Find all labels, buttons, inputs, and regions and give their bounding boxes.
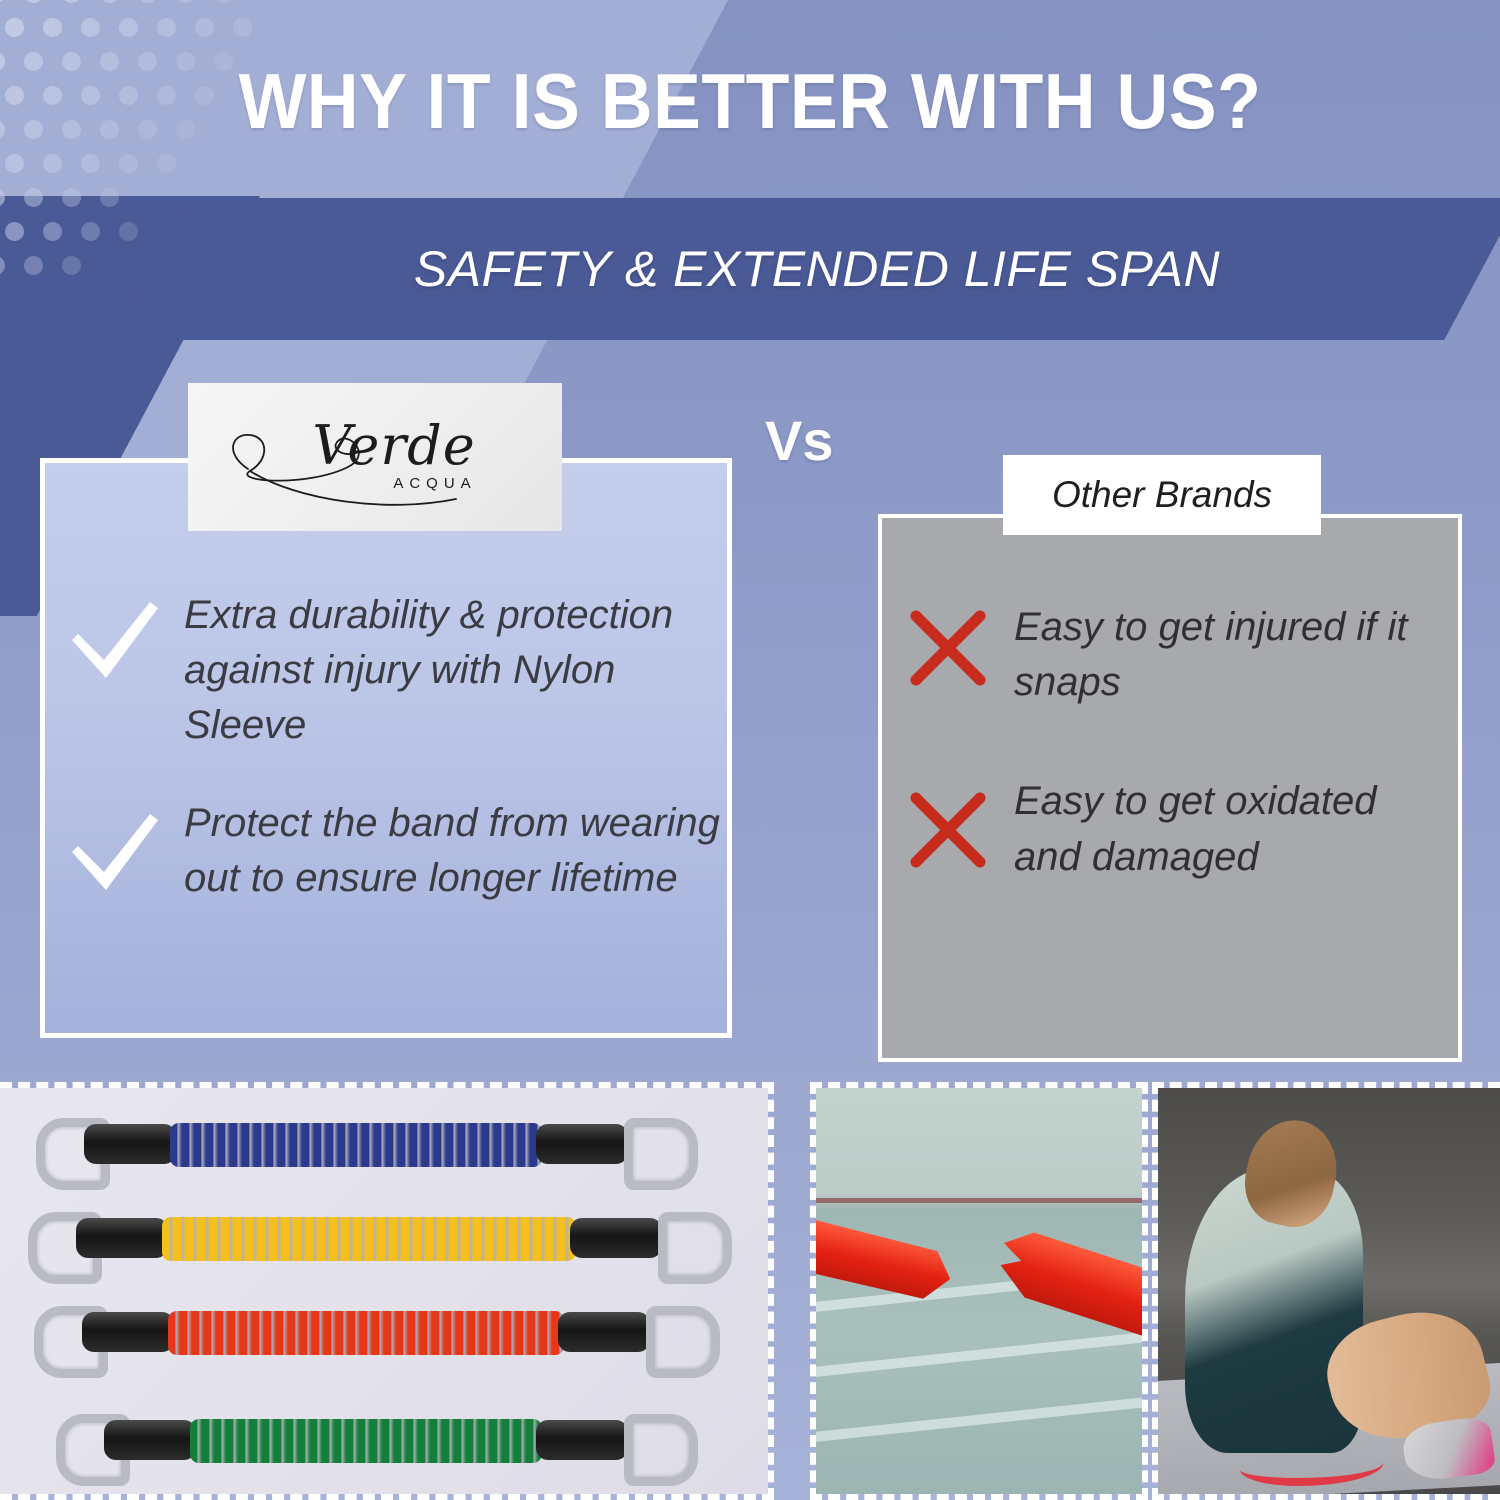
brand-logo-card: Verde ACQUA — [188, 383, 562, 531]
dot — [0, 188, 5, 207]
check-icon — [62, 806, 166, 902]
list-item-label: Easy to get oxidated and damaged — [1014, 774, 1440, 884]
dot — [24, 52, 43, 71]
list-item: Extra durability & protection against in… — [62, 588, 722, 754]
dot — [157, 154, 176, 173]
dot — [62, 0, 81, 3]
nylon-sleeve — [190, 1419, 542, 1463]
x-icon — [900, 600, 996, 696]
vs-label: Vs — [765, 408, 834, 473]
dot — [119, 18, 138, 37]
dot — [5, 86, 24, 105]
dot — [5, 222, 24, 241]
benefit-list: Extra durability & protection against in… — [62, 588, 722, 906]
resistance-bands-product-photo — [0, 1082, 774, 1500]
dot — [119, 222, 138, 241]
dot — [62, 188, 81, 207]
band-end-cap — [76, 1218, 168, 1258]
knee-injury-photo — [1152, 1082, 1500, 1500]
check-icon — [62, 594, 166, 690]
band-end-cap — [558, 1312, 650, 1352]
band-end-cap — [536, 1420, 628, 1460]
dot — [81, 18, 100, 37]
dot — [62, 256, 81, 275]
resistance-band — [34, 1310, 760, 1356]
dot — [0, 0, 5, 3]
brand-tagline: ACQUA — [393, 475, 476, 492]
list-item-label: Protect the band from wearing out to ens… — [184, 796, 722, 906]
photo-strip — [0, 1082, 1500, 1500]
list-item: Easy to get oxidated and damaged — [900, 774, 1440, 884]
dot — [43, 154, 62, 173]
dot — [214, 0, 233, 3]
band-end-cap — [570, 1218, 662, 1258]
snapped-band-photo — [810, 1082, 1148, 1500]
dot — [81, 222, 100, 241]
brand-name: Verde — [312, 422, 475, 471]
dot — [176, 0, 195, 3]
nylon-sleeve — [170, 1123, 542, 1167]
list-item-label: Extra durability & protection against in… — [184, 588, 722, 754]
resistance-band — [36, 1122, 738, 1168]
dot — [5, 18, 24, 37]
dot — [100, 0, 119, 3]
nylon-sleeve — [162, 1217, 576, 1261]
dot — [138, 0, 157, 3]
carabiner-clip — [658, 1212, 732, 1284]
other-brands-tab: Other Brands — [1003, 455, 1321, 535]
list-item-label: Easy to get injured if it snaps — [1014, 600, 1440, 710]
dot — [0, 120, 5, 139]
wall-line — [816, 1198, 1142, 1203]
carabiner-clip — [624, 1118, 698, 1190]
band-end-cap — [536, 1124, 628, 1164]
carabiner-clip — [646, 1306, 720, 1378]
resistance-band — [28, 1216, 772, 1262]
other-brands-title: Other Brands — [1052, 474, 1272, 516]
x-icon — [900, 782, 996, 878]
nylon-sleeve — [168, 1311, 564, 1355]
dot — [157, 18, 176, 37]
list-item: Easy to get injured if it snaps — [900, 600, 1440, 710]
dot — [5, 154, 24, 173]
dot — [233, 18, 252, 37]
dot — [24, 120, 43, 139]
dot — [195, 18, 214, 37]
band-end-cap — [82, 1312, 174, 1352]
infographic-page: WHY IT IS BETTER WITH US? SAFETY & EXTEN… — [0, 0, 1500, 1500]
page-title: WHY IT IS BETTER WITH US? — [60, 62, 1440, 140]
carabiner-clip — [624, 1414, 698, 1486]
dot — [119, 154, 138, 173]
dot — [100, 188, 119, 207]
dot — [24, 188, 43, 207]
resistance-band — [56, 1418, 738, 1464]
dot — [24, 256, 43, 275]
band-end-cap — [104, 1420, 196, 1460]
dot — [43, 18, 62, 37]
dot — [24, 0, 43, 3]
band-end-cap — [84, 1124, 176, 1164]
drawback-list: Easy to get injured if it snaps Easy to … — [900, 600, 1440, 885]
dot — [43, 222, 62, 241]
subtitle-text: SAFETY & EXTENDED LIFE SPAN — [152, 198, 1482, 340]
list-item: Protect the band from wearing out to ens… — [62, 796, 722, 906]
dot — [0, 52, 5, 71]
dot — [81, 154, 100, 173]
